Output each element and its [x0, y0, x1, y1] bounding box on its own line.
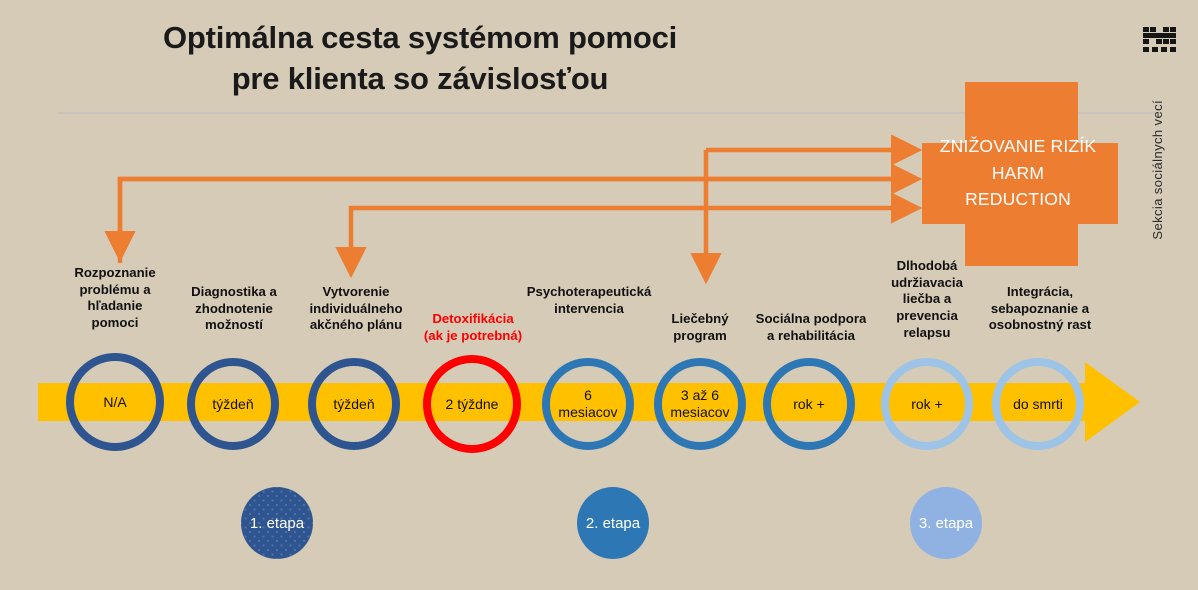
step-label-1-line-1: Rozpoznanie	[48, 265, 182, 282]
step-label-1-line-4: pomoci	[48, 315, 182, 332]
phase-bubble-3[interactable]: 3. etapa	[910, 487, 982, 559]
step-label-1: Rozpoznanie problému a hľadanie pomoci	[48, 265, 182, 332]
harm-reduction-label: ZNIŽOVANIE RIZÍK HARM REDUCTION	[920, 133, 1116, 213]
step-label-8-line-1: Dlhodobá	[872, 258, 982, 275]
step-label-8-line-4: prevencia	[872, 308, 982, 325]
phase-bubble-2-label: 2. etapa	[586, 515, 640, 532]
phase-bubble-1[interactable]: 1. etapa	[241, 487, 313, 559]
step-label-1-line-2: problému a	[48, 282, 182, 299]
step-label-3-line-3: akčného plánu	[288, 317, 424, 334]
step-label-7-line-2: a rehabilitácia	[738, 328, 884, 345]
step-label-2: Diagnostika a zhodnotenie možností	[168, 284, 300, 334]
step-label-4-line-2: (ak je potrebná)	[408, 328, 538, 345]
step-label-3-line-2: individuálneho	[288, 301, 424, 318]
step-label-3-line-1: Vytvorenie	[288, 284, 424, 301]
step-label-7: Sociálna podpora a rehabilitácia	[738, 311, 884, 344]
phase-bubble-2[interactable]: 2. etapa	[577, 487, 649, 559]
step-label-9: Integrácia, sebapoznanie a osobnostný ra…	[968, 284, 1112, 334]
connector-path-step3	[351, 208, 706, 272]
connector-path-step1	[120, 179, 706, 256]
step-label-2-line-2: zhodnotenie	[168, 301, 300, 318]
harm-reduction-line-3: REDUCTION	[920, 186, 1116, 213]
step-label-2-line-3: možností	[168, 317, 300, 334]
phase-bubble-3-label: 3. etapa	[919, 515, 973, 532]
step-label-7-line-1: Sociálna podpora	[738, 311, 884, 328]
step-label-9-line-1: Integrácia,	[968, 284, 1112, 301]
step-label-9-line-2: sebapoznanie a	[968, 301, 1112, 318]
infographic-canvas: Optimálna cesta systémom pomoci pre klie…	[0, 0, 1198, 590]
step-label-8: Dlhodobá udržiavacia liečba a prevencia …	[872, 258, 982, 341]
step-label-1-line-3: hľadanie	[48, 298, 182, 315]
step-label-8-line-3: liečba a	[872, 291, 982, 308]
harm-reduction-line-1: ZNIŽOVANIE RIZÍK	[920, 133, 1116, 160]
step-label-8-line-5: relapsu	[872, 325, 982, 342]
harm-reduction-line-2: HARM	[920, 160, 1116, 187]
step-label-8-line-2: udržiavacia	[872, 275, 982, 292]
step-label-3: Vytvorenie individuálneho akčného plánu	[288, 284, 424, 334]
phase-bubble-1-label: 1. etapa	[250, 515, 304, 532]
step-label-5-line-1: Psychoterapeutická	[510, 284, 668, 301]
connector-arrow-1	[120, 179, 916, 263]
step-label-2-line-1: Diagnostika a	[168, 284, 300, 301]
step-label-9-line-3: osobnostný rast	[968, 317, 1112, 334]
